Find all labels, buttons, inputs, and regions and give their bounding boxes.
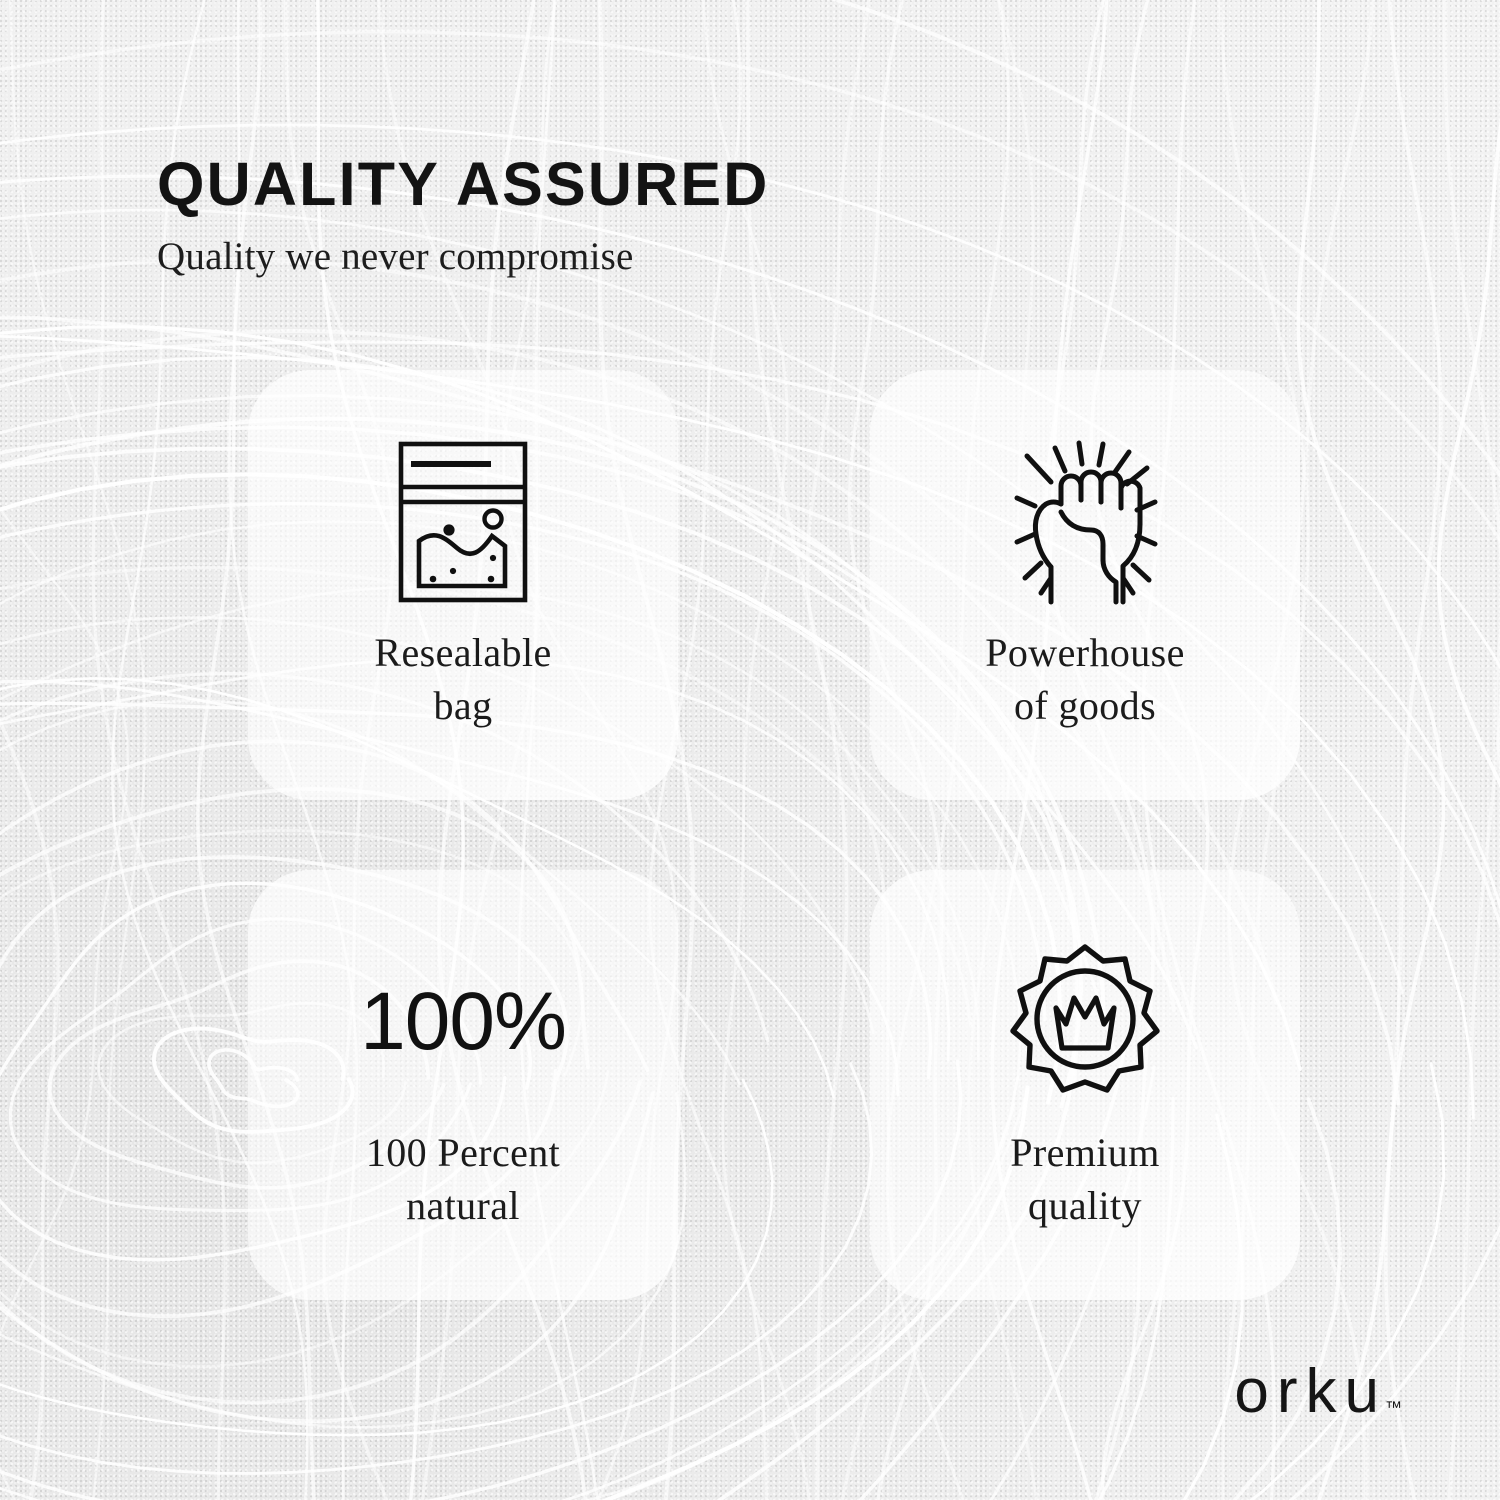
raised-fist-icon [1003,434,1167,610]
page-title: QUALITY ASSURED [157,152,1157,216]
percent-100-text: 100% [360,981,566,1063]
page-subtitle: Quality we never compromise [157,234,1157,279]
feature-card-resealable-bag[interactable]: Resealable bag [248,370,678,800]
brand-logo: orku ™ [1234,1363,1402,1422]
feature-card-powerhouse-of-goods[interactable]: Powerhouse of goods [870,370,1300,800]
feature-card-grid: Resealable bag [248,370,1248,1300]
percent-100-badge: 100% [360,934,566,1110]
feature-label: Powerhouse of goods [985,626,1185,732]
feature-card-premium-quality[interactable]: Premium quality [870,870,1300,1300]
feature-card-100-percent-natural[interactable]: 100% 100 Percent natural [248,870,678,1300]
feature-label: 100 Percent natural [366,1126,560,1232]
feature-label: Resealable bag [374,626,551,732]
quality-assured-infographic: QUALITY ASSURED Quality we never comprom… [0,0,1500,1500]
brand-name: orku [1234,1363,1387,1422]
feature-label: Premium quality [1010,1126,1159,1232]
header-block: QUALITY ASSURED Quality we never comprom… [157,152,1157,279]
trademark-symbol: ™ [1385,1398,1402,1418]
resealable-bag-icon [397,434,529,610]
crown-badge-icon [1004,934,1166,1110]
